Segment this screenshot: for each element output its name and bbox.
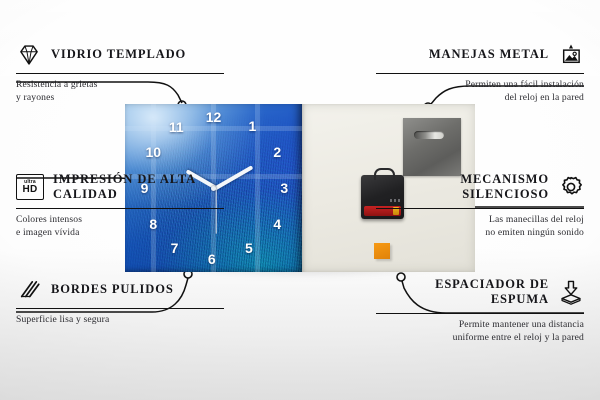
callout-subtitle: Colores intensos e imagen vívida (16, 214, 224, 240)
foam-spacer (374, 243, 390, 259)
foam-spacer-icon (558, 279, 584, 305)
callout-impresion-alta-calidad: ultra HD IMPRESIÓN DE ALTA CALIDAD Color… (16, 172, 224, 240)
callout-rule (16, 308, 224, 309)
infographic-canvas: 12 1 2 3 4 5 6 7 8 9 10 11 (0, 0, 600, 400)
callout-subtitle: Superficie lisa y segura (16, 314, 224, 327)
callout-mecanismo-silencioso: MECANISMO SILENCIOSO Las manecillas del … (376, 172, 584, 240)
clock-numeral-1: 1 (249, 119, 257, 133)
diamond-icon (16, 42, 42, 68)
clock-numeral-2: 2 (273, 145, 281, 159)
callout-rule (376, 73, 584, 74)
clock-numeral-6: 6 (208, 252, 216, 266)
callout-espaciador-espuma: ESPACIADOR DE ESPUMA Permite mantener un… (376, 277, 584, 345)
gear-icon (558, 174, 584, 200)
clock-numeral-11: 11 (169, 120, 184, 134)
callout-rule (376, 208, 584, 209)
callout-subtitle: Las manecillas del reloj no emiten ningú… (376, 214, 584, 240)
art-grid-line (125, 126, 302, 131)
callout-rule (16, 208, 224, 209)
callout-title: MANEJAS METAL (429, 47, 549, 62)
callout-rule (376, 313, 584, 314)
clock-numeral-7: 7 (171, 241, 179, 255)
callout-bordes-pulidos: BORDES PULIDOS Superficie lisa y segura (16, 277, 224, 327)
clock-numeral-3: 3 (280, 181, 288, 195)
callout-subtitle: Permite mantener una distancia uniforme … (376, 319, 584, 345)
metal-hanger-plate (403, 118, 461, 176)
callout-rule (16, 73, 224, 74)
ultra-hd-icon: ultra HD (16, 174, 44, 200)
clock-numeral-4: 4 (273, 217, 281, 231)
clock-numeral-5: 5 (245, 241, 253, 255)
callout-title: ESPACIADOR DE ESPUMA (376, 277, 549, 308)
callout-title: VIDRIO TEMPLADO (51, 47, 186, 62)
callout-manejas-metal: MANEJAS METAL Permiten una fácil instala… (376, 42, 584, 105)
callout-subtitle: Permiten una fácil instalación del reloj… (376, 79, 584, 105)
callout-subtitle: Resistencia a grietas y rayones (16, 79, 224, 105)
callout-title: IMPRESIÓN DE ALTA CALIDAD (53, 172, 224, 203)
callout-title: MECANISMO SILENCIOSO (376, 172, 549, 203)
clock-numeral-12: 12 (206, 110, 222, 124)
callout-title: BORDES PULIDOS (51, 282, 174, 297)
polished-edges-icon (16, 277, 42, 303)
clock-numeral-10: 10 (146, 145, 162, 159)
picture-hanger-icon (558, 42, 584, 68)
ultra-hd-icon-main: HD (22, 185, 37, 195)
callout-vidrio-templado: VIDRIO TEMPLADO Resistencia a grietas y … (16, 42, 224, 105)
